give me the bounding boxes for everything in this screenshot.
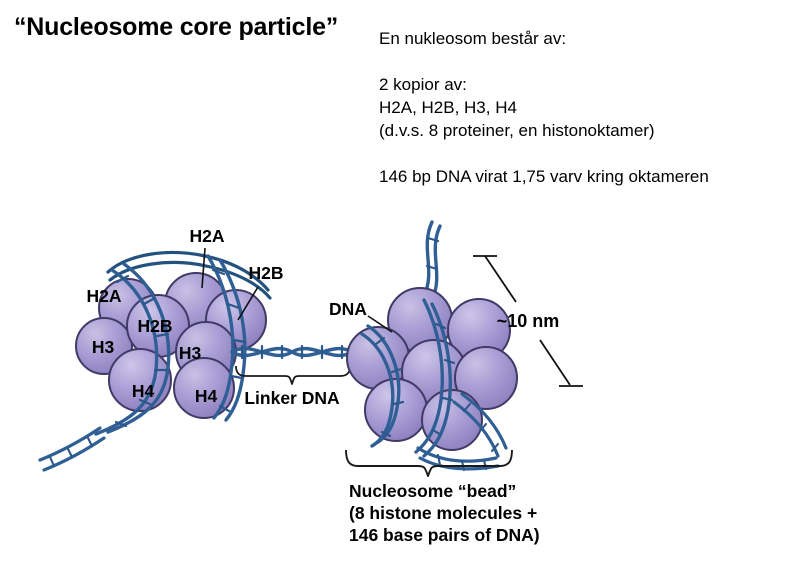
label-linker-dna: Linker DNA [244,388,340,408]
scale-bar-line-upper [485,256,516,302]
caption-group: Nucleosome “bead” (8 histone molecules +… [346,450,540,545]
linker-dna-group: Linker DNA [232,346,352,408]
label-h3-left: H3 [92,337,115,357]
label-dna: DNA [329,299,367,319]
text-line-histones: H2A, H2B, H3, H4 [379,96,779,119]
caption-line-3: 146 base pairs of DNA) [349,525,540,545]
text-line-intro: En nukleosom består av: [379,27,779,50]
text-paragraph-intro: En nukleosom består av: [379,27,779,50]
label-h2b-outer: H2B [248,263,283,283]
caption-line-1: Nucleosome “bead” [349,481,516,501]
text-paragraph-composition: 2 kopior av: H2A, H2B, H3, H4 (d.v.s. 8 … [379,73,779,142]
slide-canvas: “Nucleosome core particle” En nukleosom … [0,0,802,574]
description-text-block: En nukleosom består av: 2 kopior av: H2A… [379,27,779,188]
histone-bead [109,349,171,411]
label-scale-10nm: ~10 nm [497,311,560,331]
label-h3-right: H3 [179,343,202,363]
text-line-dna-wrap: 146 bp DNA virat 1,75 varv kring oktamer… [379,165,779,188]
text-line-octamer: (d.v.s. 8 proteiner, en histonoktamer) [379,119,779,142]
text-paragraph-dna: 146 bp DNA virat 1,75 varv kring oktamer… [379,165,779,188]
page-title: “Nucleosome core particle” [14,13,338,42]
label-h4-right: H4 [195,386,218,406]
text-line-copies: 2 kopior av: [379,73,779,96]
label-h4-left: H4 [132,381,155,401]
label-h2a-inner: H2A [86,286,121,306]
scale-bar-line-lower [540,340,570,385]
caption-line-2: (8 histone molecules + [349,503,537,523]
linker-dna-brace [236,366,350,384]
label-h2a-outer: H2A [189,226,224,246]
label-h2b-inner: H2B [137,316,172,336]
nucleosome-diagram: H2A H2B H3 H3 H4 H4 H2A H2B [0,212,660,562]
right-nucleosome-group: DNA [329,222,517,470]
